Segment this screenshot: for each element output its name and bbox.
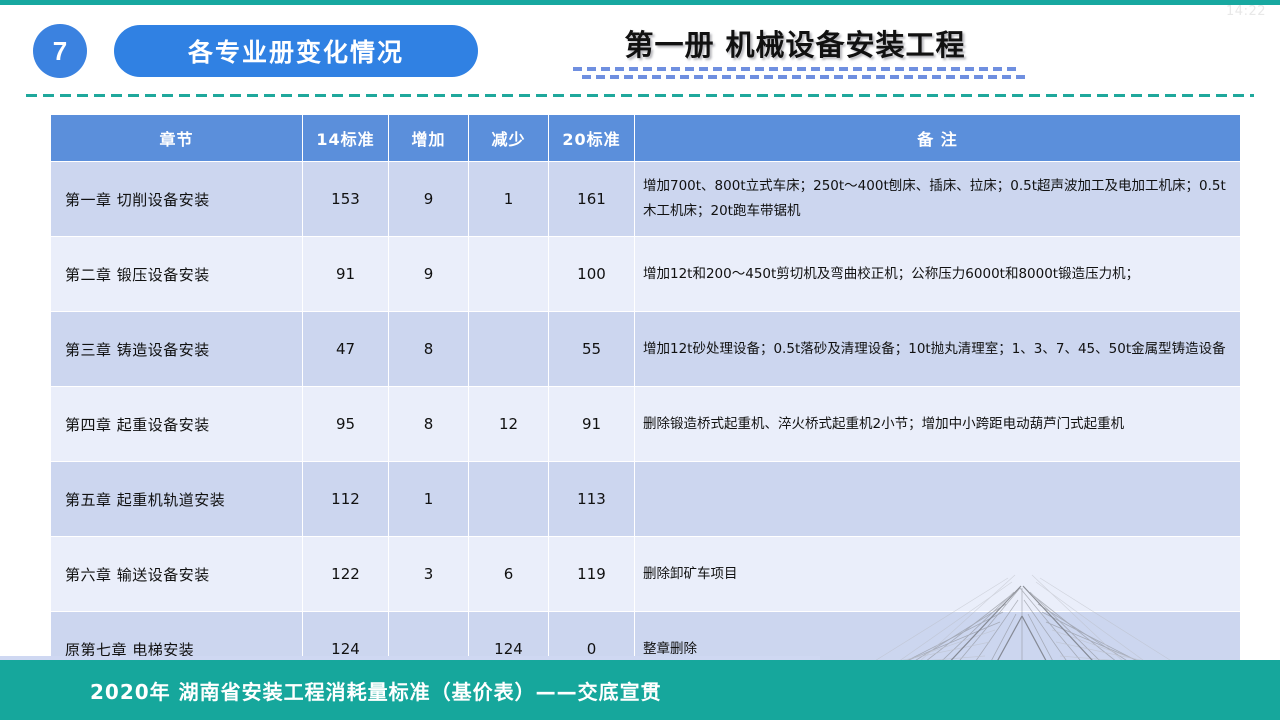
cell-chapter: 第一章 切削设备安装 [51, 162, 303, 237]
slide-title-group: 第一册 机械设备安装工程 [560, 22, 1030, 79]
cell-removed [469, 312, 549, 387]
cell-std14: 122 [303, 537, 389, 612]
cell-chapter: 第五章 起重机轨道安装 [51, 462, 303, 537]
cell-std14: 153 [303, 162, 389, 237]
col-header-chapter: 章节 [51, 115, 303, 162]
col-header-removed: 减少 [469, 115, 549, 162]
clock-label: 14:22 [1226, 4, 1266, 19]
cell-note: 增加700t、800t立式车床；250t～400t刨床、插床、拉床；0.5t超声… [635, 162, 1241, 237]
cell-chapter: 第二章 锻压设备安装 [51, 237, 303, 312]
cell-std20: 161 [549, 162, 635, 237]
cell-std20: 119 [549, 537, 635, 612]
table-row: 第五章 起重机轨道安装 112 1 113 [51, 462, 1241, 537]
section-number-badge: 7 [33, 24, 87, 78]
cell-chapter: 第六章 输送设备安装 [51, 537, 303, 612]
cell-added: 3 [389, 537, 469, 612]
table-row: 第一章 切削设备安装 153 9 1 161 增加700t、800t立式车床；2… [51, 162, 1241, 237]
cell-std20: 100 [549, 237, 635, 312]
table-row: 第六章 输送设备安装 122 3 6 119 删除卸矿车项目 [51, 537, 1241, 612]
cell-added: 9 [389, 237, 469, 312]
cell-std14: 91 [303, 237, 389, 312]
cell-std14: 112 [303, 462, 389, 537]
col-header-added: 增加 [389, 115, 469, 162]
col-header-std14: 14标准 [303, 115, 389, 162]
changes-table: 章节 14标准 增加 减少 20标准 备 注 第一章 切削设备安装 153 9 … [50, 114, 1241, 687]
table-row: 第二章 锻压设备安装 91 9 100 增加12t和200～450t剪切机及弯曲… [51, 237, 1241, 312]
cell-removed [469, 462, 549, 537]
section-label-pill: 各专业册变化情况 [114, 25, 478, 77]
cell-added: 9 [389, 162, 469, 237]
title-underline-bottom [582, 75, 1026, 79]
cell-note: 删除锻造桥式起重机、淬火桥式起重机2小节；增加中小跨距电动葫芦门式起重机 [635, 387, 1241, 462]
cell-std20: 91 [549, 387, 635, 462]
cell-note: 增加12t砂处理设备；0.5t落砂及清理设备；10t抛丸清理室；1、3、7、45… [635, 312, 1241, 387]
slide: 14:22 7 各专业册变化情况 第一册 机械设备安装工程 章节 14标准 增加 [0, 0, 1280, 720]
cell-added: 8 [389, 312, 469, 387]
cell-chapter: 第三章 铸造设备安装 [51, 312, 303, 387]
cell-note: 删除卸矿车项目 [635, 537, 1241, 612]
page-title: 第一册 机械设备安装工程 [560, 22, 1030, 64]
cell-std20: 113 [549, 462, 635, 537]
cell-added: 8 [389, 387, 469, 462]
table-body: 第一章 切削设备安装 153 9 1 161 增加700t、800t立式车床；2… [51, 162, 1241, 687]
table-head: 章节 14标准 增加 减少 20标准 备 注 [51, 115, 1241, 162]
title-underline-top [573, 67, 1017, 71]
top-teal-rule [0, 0, 1280, 5]
cell-removed: 6 [469, 537, 549, 612]
changes-table-wrapper: 章节 14标准 增加 减少 20标准 备 注 第一章 切削设备安装 153 9 … [50, 114, 1240, 687]
cell-removed [469, 237, 549, 312]
cell-std20: 55 [549, 312, 635, 387]
header-dashed-divider [26, 94, 1254, 97]
cell-std14: 95 [303, 387, 389, 462]
cell-removed: 1 [469, 162, 549, 237]
cell-added: 1 [389, 462, 469, 537]
col-header-std20: 20标准 [549, 115, 635, 162]
cell-note [635, 462, 1241, 537]
table-row: 第三章 铸造设备安装 47 8 55 增加12t砂处理设备；0.5t落砂及清理设… [51, 312, 1241, 387]
cell-chapter: 第四章 起重设备安装 [51, 387, 303, 462]
cell-std14: 47 [303, 312, 389, 387]
table-row: 第四章 起重设备安装 95 8 12 91 删除锻造桥式起重机、淬火桥式起重机2… [51, 387, 1241, 462]
cell-removed: 12 [469, 387, 549, 462]
table-header-row: 章节 14标准 增加 减少 20标准 备 注 [51, 115, 1241, 162]
cell-note: 增加12t和200～450t剪切机及弯曲校正机；公称压力6000t和8000t锻… [635, 237, 1241, 312]
footer-text: 2020年 湖南省安装工程消耗量标准（基价表）——交底宣贯 [0, 660, 1280, 720]
col-header-note: 备 注 [635, 115, 1241, 162]
